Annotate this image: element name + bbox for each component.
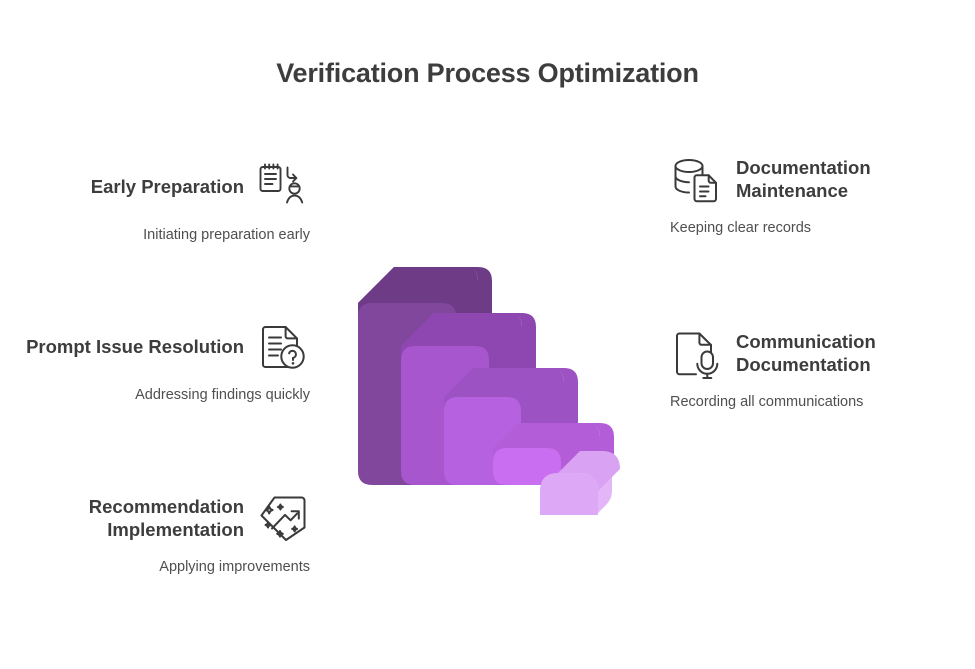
- feature-head: Prompt Issue Resolution: [10, 320, 310, 374]
- feature-head: Documentation Maintenance: [670, 153, 970, 207]
- database-document-icon: [670, 153, 724, 207]
- notepad-person-arrow-icon: [256, 160, 310, 214]
- document-question-icon: [256, 320, 310, 374]
- feature-description-prompt-issue-resolution: Addressing findings quickly: [10, 385, 310, 406]
- sparkle-arrow-tag-icon: [256, 492, 310, 546]
- feature-title-prompt-issue-resolution: Prompt Issue Resolution: [26, 336, 244, 359]
- feature-description-documentation-maintenance: Keeping clear records: [670, 218, 970, 239]
- feature-item-recommendation-implementation: Recommendation Implementation Applying i…: [10, 492, 310, 578]
- feature-description-communication-documentation: Recording all communications: [670, 392, 970, 413]
- feature-title-early-preparation: Early Preparation: [91, 176, 244, 199]
- feature-description-early-preparation: Initiating preparation early: [10, 225, 310, 246]
- feature-item-early-preparation: Early Preparation Initiating preparation…: [10, 160, 310, 246]
- feature-title-recommendation-implementation: Recommendation Implementation: [10, 496, 244, 542]
- feature-head: Early Preparation: [10, 160, 310, 214]
- feature-item-documentation-maintenance: Documentation Maintenance Keeping clear …: [670, 153, 970, 239]
- document-microphone-icon: [670, 327, 724, 381]
- feature-title-communication-documentation: Communication Documentation: [736, 331, 970, 377]
- feature-title-documentation-maintenance: Documentation Maintenance: [736, 157, 970, 203]
- feature-description-recommendation-implementation: Applying improvements: [10, 557, 310, 578]
- feature-item-communication-documentation: Communication Documentation Recording al…: [670, 327, 970, 413]
- feature-head: Communication Documentation: [670, 327, 970, 381]
- feature-item-prompt-issue-resolution: Prompt Issue Resolution Addressing findi…: [10, 320, 310, 406]
- stacked-funnel-graphic: [330, 205, 670, 515]
- page-title: Verification Process Optimization: [0, 58, 975, 89]
- feature-head: Recommendation Implementation: [10, 492, 310, 546]
